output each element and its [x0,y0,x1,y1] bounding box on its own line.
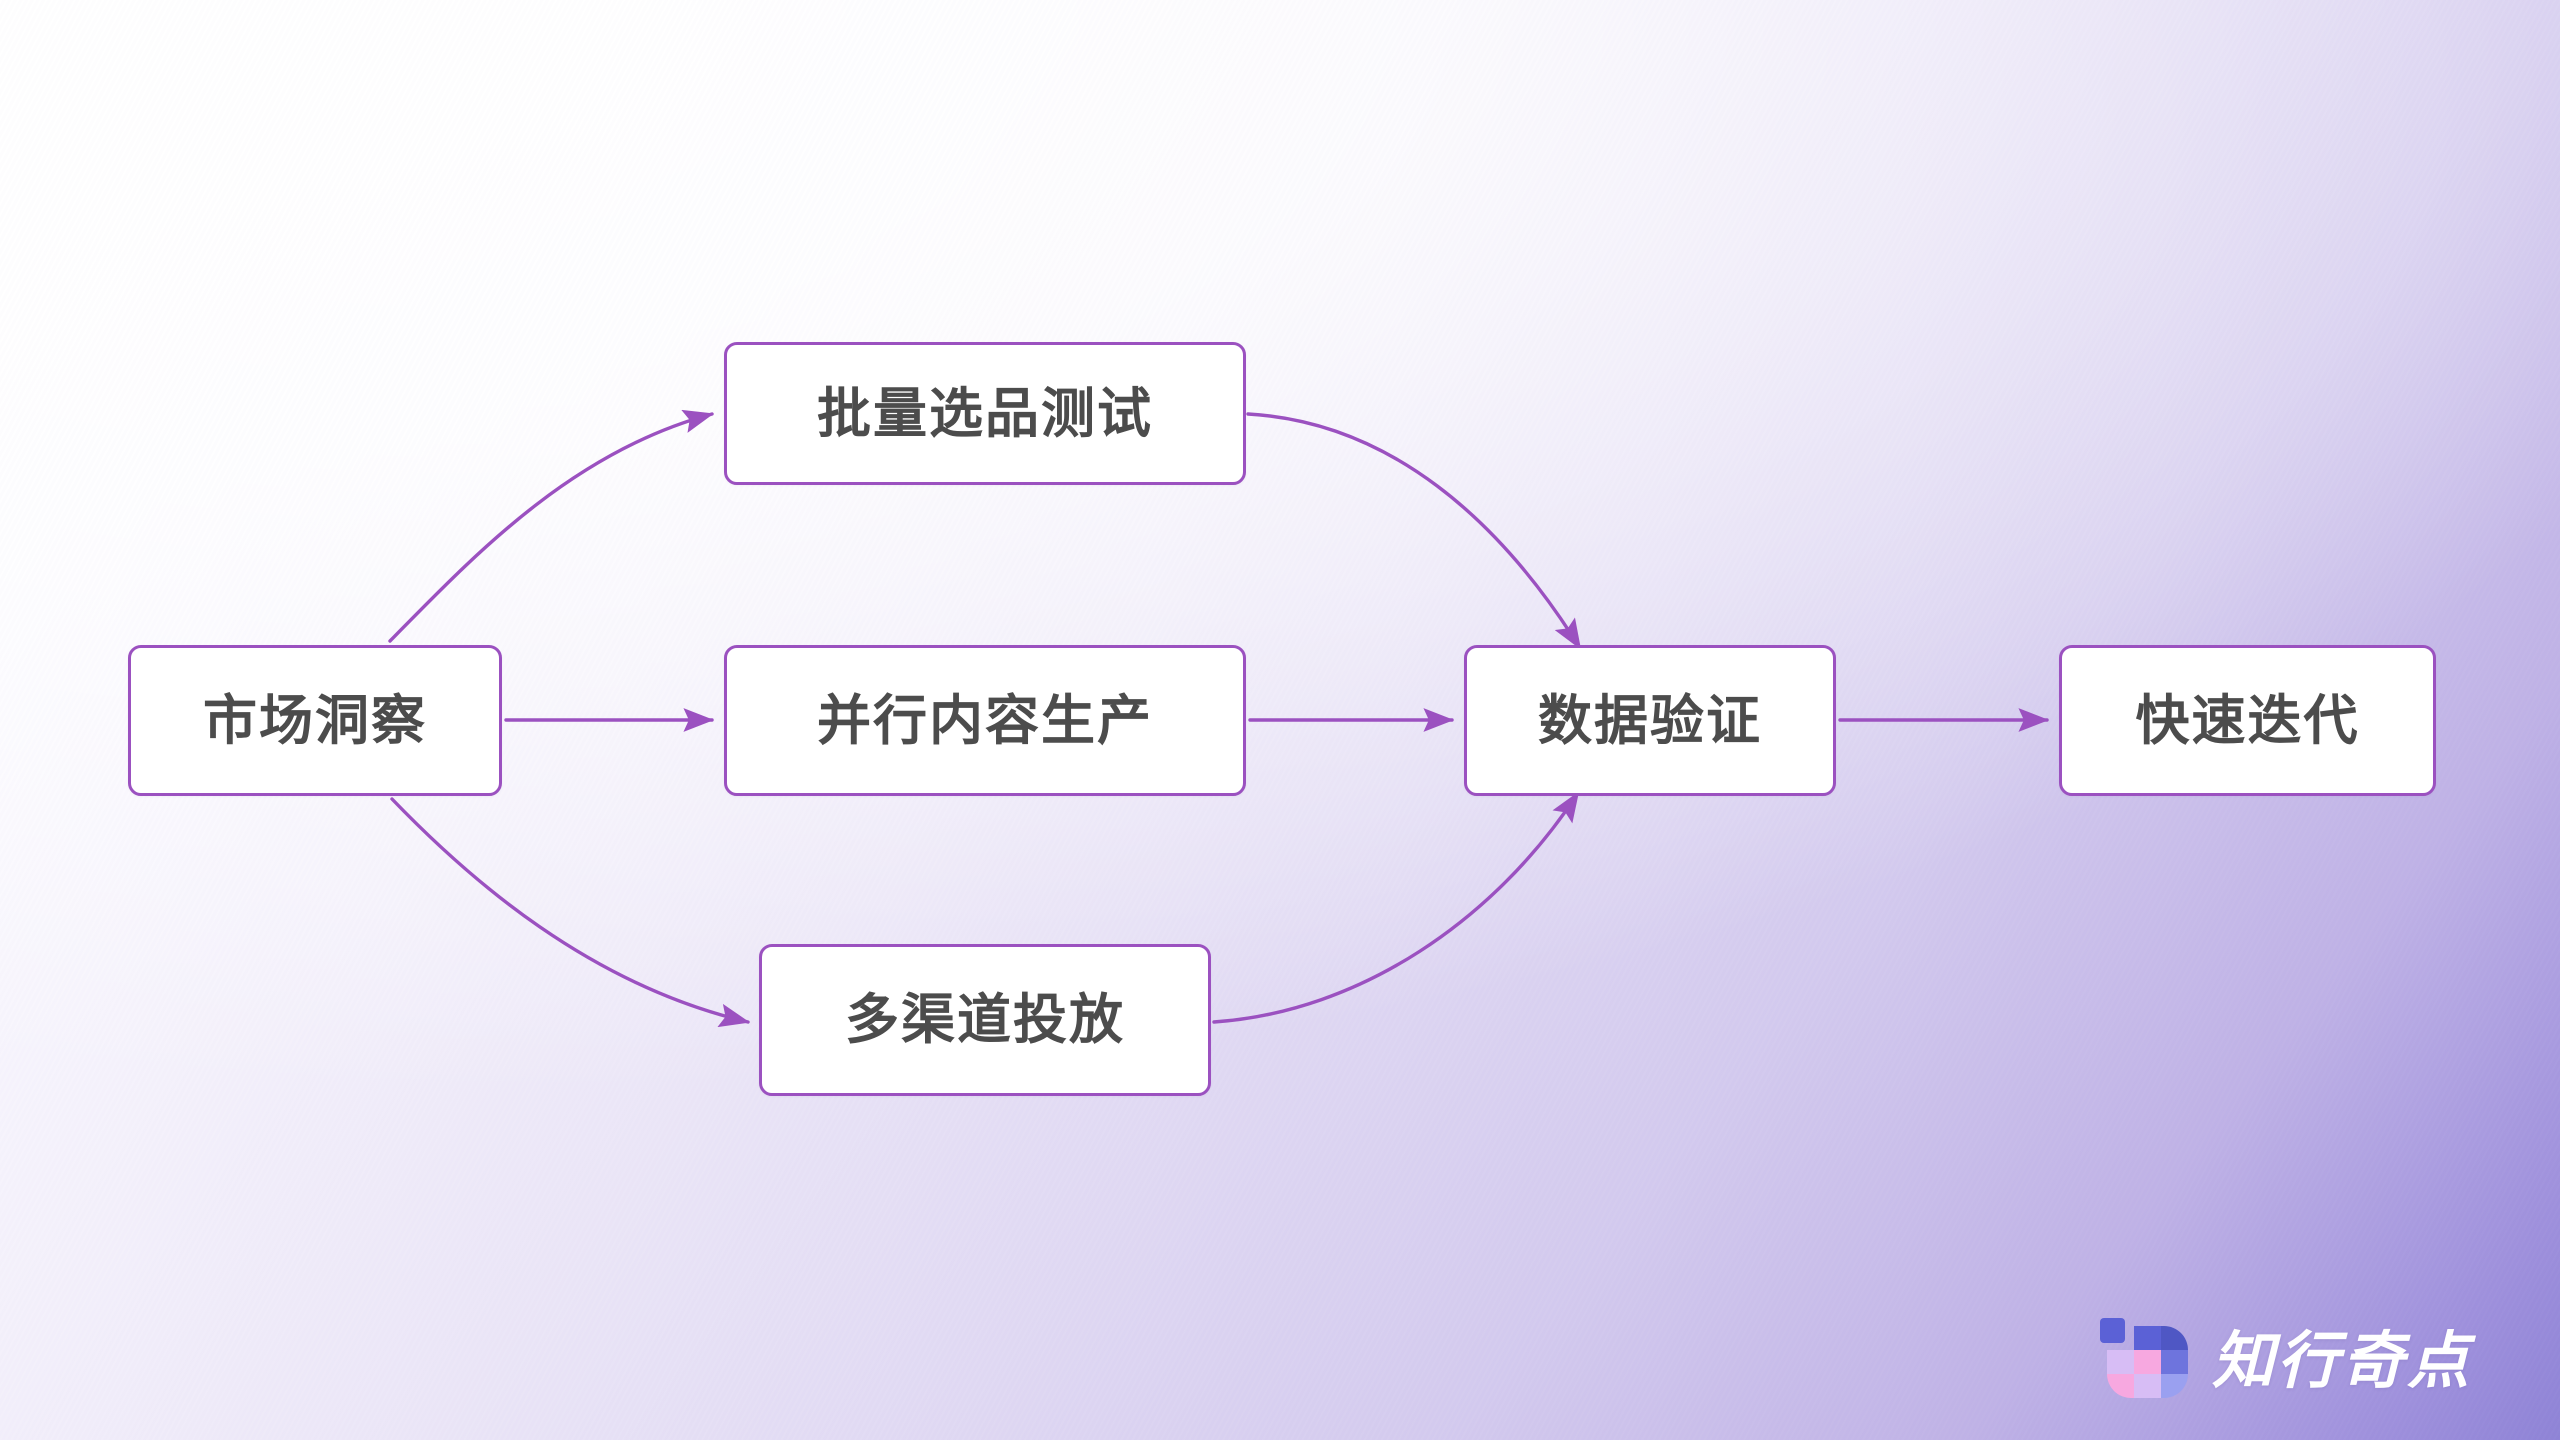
edge-channel-to-validate [1214,793,1578,1022]
node-parallel-content-production[interactable]: 并行内容生产 [724,645,1246,796]
node-label: 数据验证 [1538,694,1762,748]
brand-watermark: 知行奇点 [2098,1316,2472,1408]
checkered-square-logo-icon [2098,1316,2190,1408]
node-label: 多渠道投放 [845,993,1125,1047]
node-batch-product-test[interactable]: 批量选品测试 [724,342,1246,485]
node-data-validation[interactable]: 数据验证 [1464,645,1836,796]
node-label: 快速迭代 [2136,694,2360,748]
diagram-canvas: 市场洞察 批量选品测试 并行内容生产 多渠道投放 数据验证 快速迭代 [0,0,2560,1440]
node-multichannel-distribution[interactable]: 多渠道投放 [759,944,1211,1096]
node-label: 批量选品测试 [817,387,1153,441]
node-label: 市场洞察 [203,694,427,748]
edge-market-to-channel [392,799,748,1022]
node-rapid-iteration[interactable]: 快速迭代 [2059,645,2436,796]
edge-market-to-batch [390,414,712,641]
brand-name: 知行奇点 [2212,1331,2472,1393]
node-market-insight[interactable]: 市场洞察 [128,645,502,796]
edge-batch-to-validate [1248,414,1580,648]
node-label: 并行内容生产 [817,694,1153,748]
